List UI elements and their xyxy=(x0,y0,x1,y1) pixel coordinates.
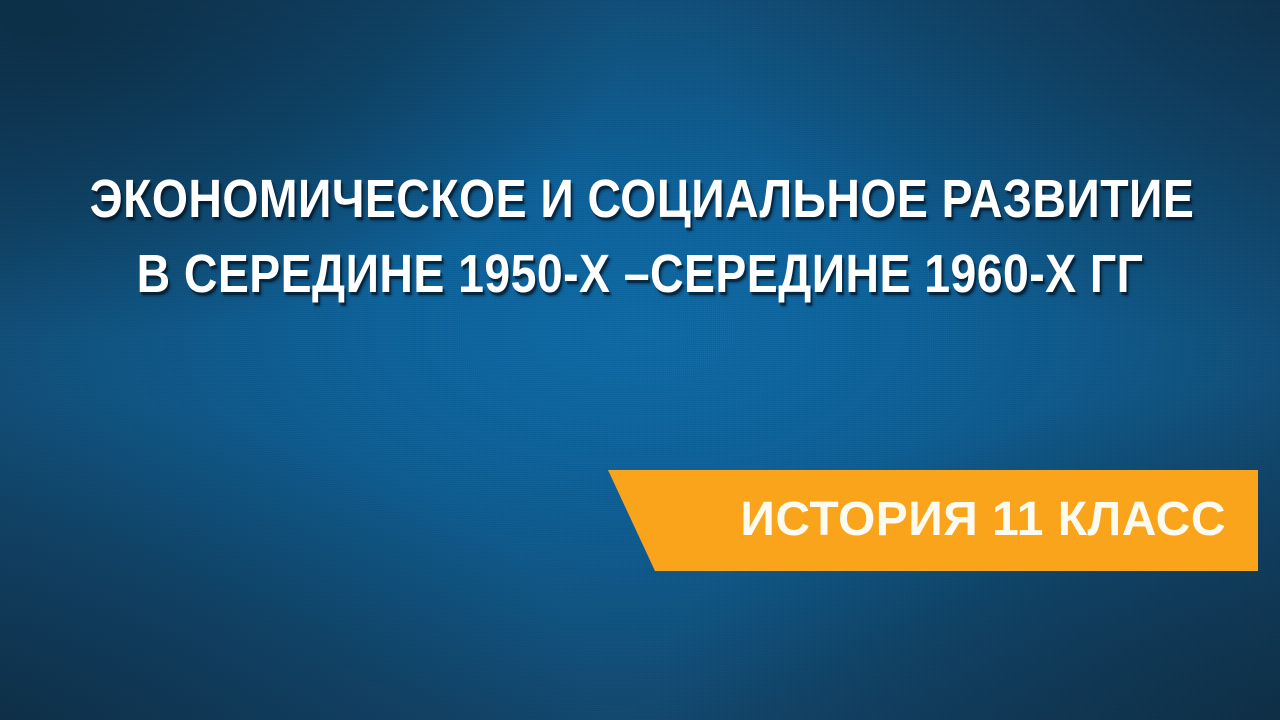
page-title: ЭКОНОМИЧЕСКОЕ И СОЦИАЛЬНОЕ РАЗВИТИЕ В СЕ… xyxy=(0,168,1280,305)
background-texture-overlay xyxy=(0,0,1280,720)
subject-banner-label: ИСТОРИЯ 11 КЛАСС xyxy=(740,492,1258,547)
title-line-primary: ЭКОНОМИЧЕСКОЕ И СОЦИАЛЬНОЕ РАЗВИТИЕ xyxy=(90,168,1191,230)
title-slide: ЭКОНОМИЧЕСКОЕ И СОЦИАЛЬНОЕ РАЗВИТИЕ В СЕ… xyxy=(0,0,1280,720)
title-line-secondary: В СЕРЕДИНЕ 1950-Х –СЕРЕДИНЕ 1960-Х ГГ xyxy=(90,243,1191,305)
subject-banner: ИСТОРИЯ 11 КЛАСС xyxy=(608,470,1258,571)
